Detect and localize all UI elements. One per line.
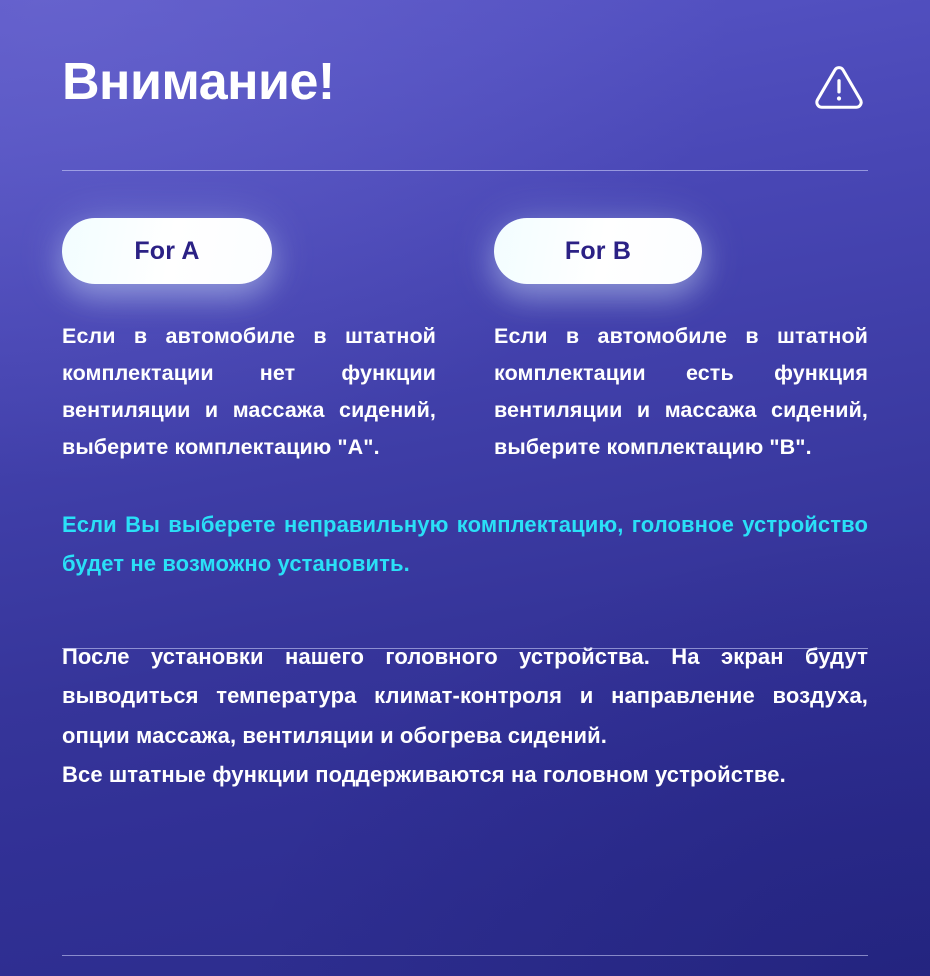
divider-middle (62, 648, 868, 649)
divider-bottom (62, 955, 868, 956)
bottom-info-block: После установки нашего головного устройс… (62, 583, 868, 794)
warning-info-panel: Внимание! For A Если в автомобиле в штат… (0, 0, 930, 976)
warning-triangle-icon (812, 60, 866, 114)
page-header: Внимание! (62, 0, 868, 170)
page-title: Внимание! (62, 56, 335, 108)
option-column-a: For A Если в автомобиле в штатной компле… (62, 218, 436, 466)
option-column-b: For B Если в автомобиле в штатной компле… (494, 218, 868, 466)
option-description-b: Если в автомобиле в штатной комплектации… (494, 318, 868, 466)
bottom-paragraph-1: После установки нашего головного устройс… (62, 637, 868, 754)
warning-note: Если Вы выберете неправильную комплектац… (62, 506, 868, 583)
options-columns: For A Если в автомобиле в штатной компле… (62, 170, 868, 466)
bottom-paragraph-2: Все штатные функции поддерживаются на го… (62, 755, 868, 794)
divider-header (62, 170, 868, 171)
option-description-a: Если в автомобиле в штатной комплектации… (62, 318, 436, 466)
option-pill-for-b[interactable]: For B (494, 218, 702, 284)
option-pill-for-a[interactable]: For A (62, 218, 272, 284)
